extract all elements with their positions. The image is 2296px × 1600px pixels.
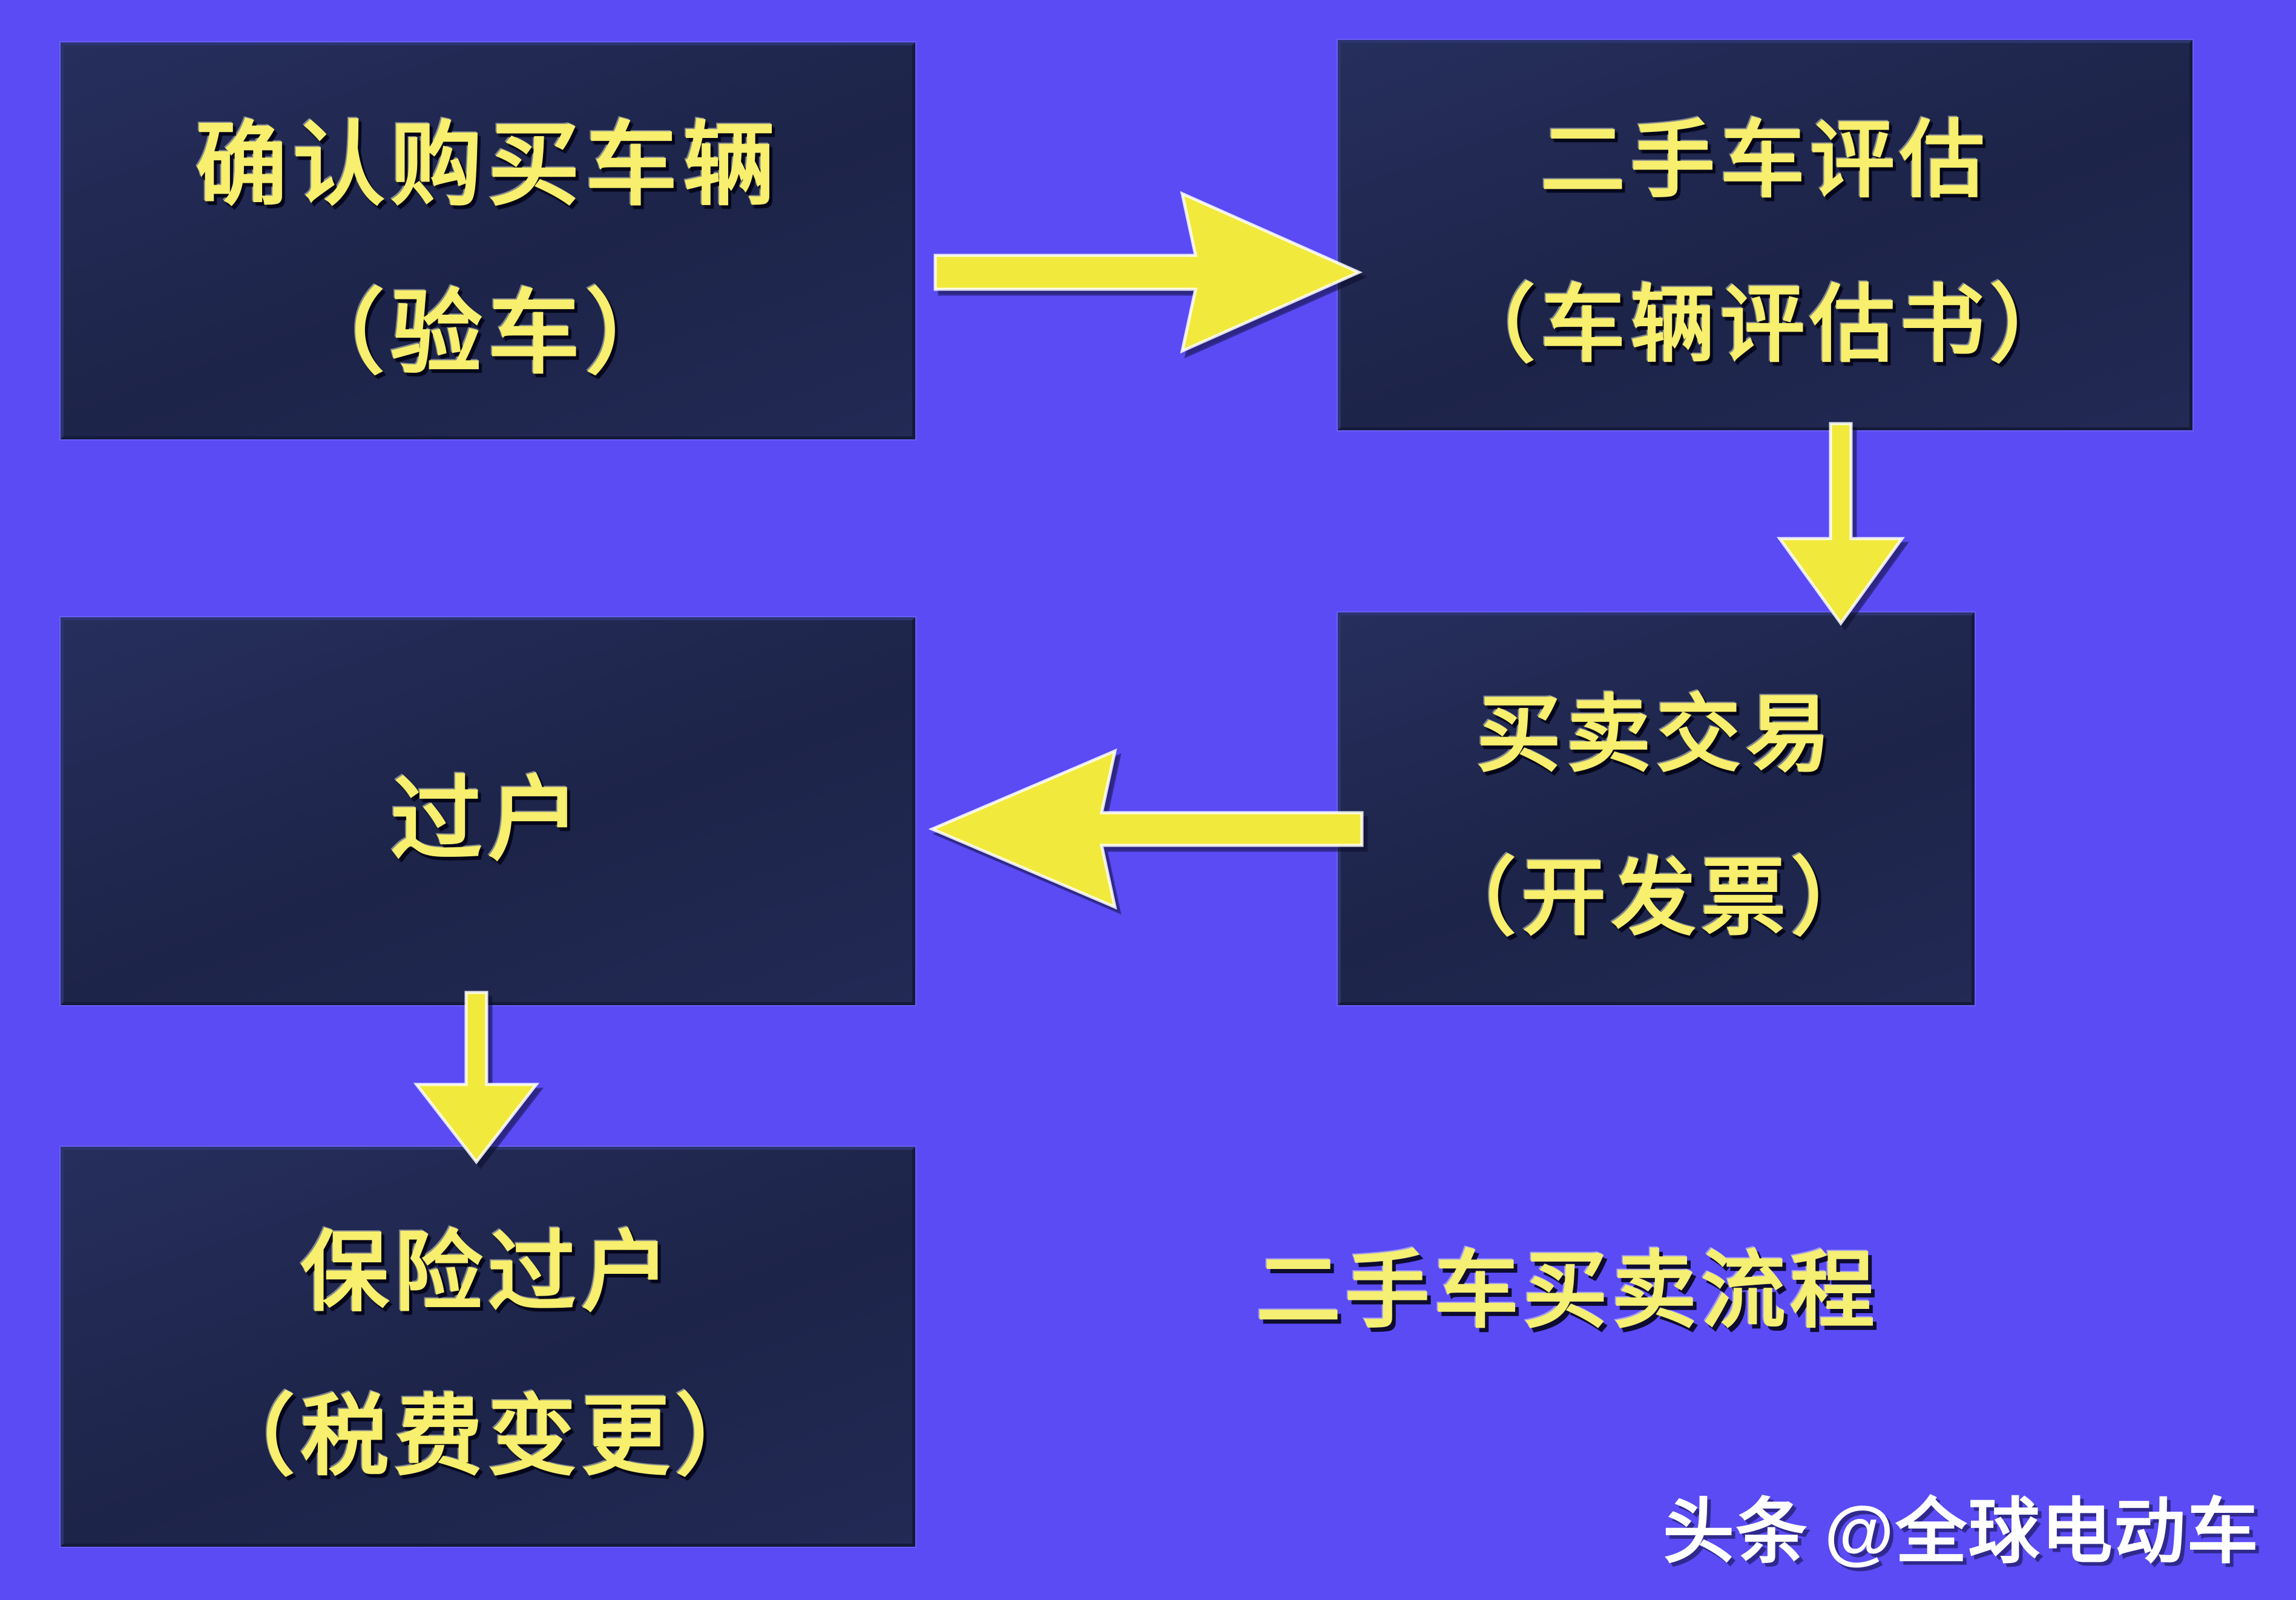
flow-node-sale-transaction-line1: 买卖交易 (1476, 666, 1836, 789)
diagram-caption: 二手车买卖流程 (1256, 1222, 1879, 1345)
flow-node-used-car-appraisal[interactable]: 二手车评估 （车辆评估书） (1338, 40, 2192, 430)
flow-node-used-car-appraisal-line2: （车辆评估书） (1451, 257, 2080, 379)
flowchart-canvas: 确认购买车辆 （验车） 二手车评估 （车辆评估书） 买卖交易 （开发票） 过户 … (0, 0, 2296, 1600)
flow-node-confirm-purchase[interactable]: 确认购买车辆 （验车） (61, 42, 915, 439)
flow-node-sale-transaction-line2: （开发票） (1432, 830, 1881, 952)
flow-node-insurance-transfer-line2: （税费变更） (207, 1365, 769, 1493)
flow-node-used-car-appraisal-line1: 二手车评估 (1541, 92, 1990, 214)
flow-node-confirm-purchase-line2: （验车） (293, 258, 683, 392)
arrow-left-trade-to-transfer-icon (932, 735, 1362, 923)
watermark-brand: 头条 (1663, 1474, 1809, 1577)
arrow-right-confirm-to-appraise-icon (935, 182, 1359, 363)
flow-node-sale-transaction[interactable]: 买卖交易 （开发票） (1338, 612, 1975, 1005)
watermark-handle: @全球电动车 (1824, 1474, 2260, 1577)
arrow-down-appraise-to-trade-icon (1743, 424, 1949, 623)
flow-node-insurance-transfer-line1: 保险过户 (300, 1201, 675, 1329)
flow-node-insurance-transfer[interactable]: 保险过户 （税费变更） (61, 1147, 915, 1547)
flow-node-ownership-transfer[interactable]: 过户 (61, 617, 915, 1005)
flow-node-confirm-purchase-line1: 确认购买车辆 (196, 90, 781, 223)
flow-node-ownership-transfer-line1: 过户 (390, 745, 585, 878)
watermark: 头条 @全球电动车 (1663, 1474, 2260, 1577)
arrow-down-transfer-to-insurance-icon (381, 992, 581, 1162)
